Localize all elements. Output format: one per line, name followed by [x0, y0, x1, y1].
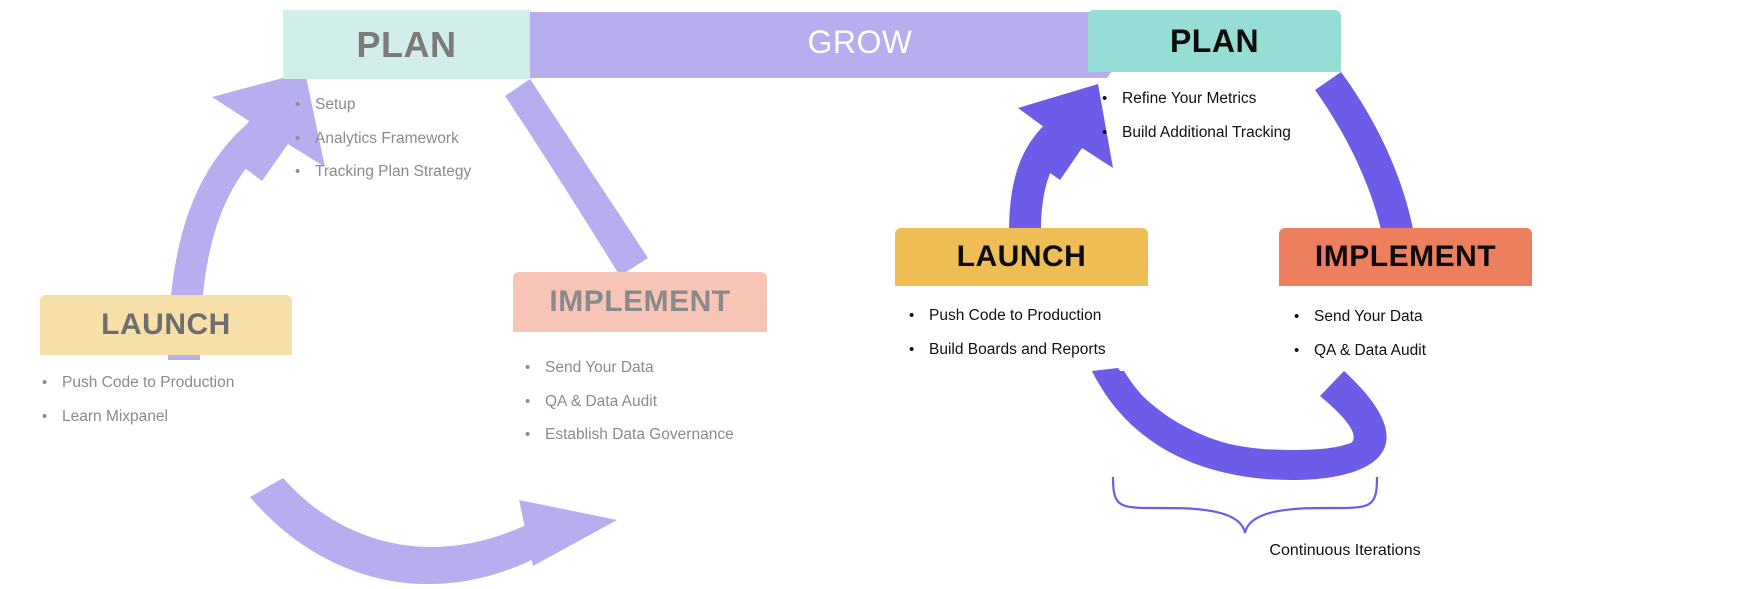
list-item: Analytics Framework [291, 122, 471, 156]
right-plan-title: PLAN [1170, 25, 1259, 57]
list-item: Establish Data Governance [521, 418, 734, 452]
right-launch-box[interactable]: LAUNCH [895, 228, 1148, 286]
left-launch-box[interactable]: LAUNCH [40, 295, 292, 355]
list-item: Learn Mixpanel [38, 400, 234, 434]
left-plan-title: PLAN [357, 27, 457, 63]
list-item: Send Your Data [521, 351, 734, 385]
left-plan-bullets: Setup Analytics Framework Tracking Plan … [291, 88, 471, 189]
left-launch-bullets: Push Code to Production Learn Mixpanel [38, 366, 234, 433]
grow-banner-label: GROW [700, 20, 1020, 64]
continuous-iterations-label: Continuous Iterations [1180, 542, 1510, 560]
list-item: Tracking Plan Strategy [291, 155, 471, 189]
continuous-iterations-brace [1113, 477, 1377, 533]
list-item: Push Code to Production [905, 299, 1106, 333]
diagram-canvas: GROW PLAN Setup Analytics Framework Trac… [0, 0, 1740, 589]
list-item: Build Additional Tracking [1098, 116, 1291, 150]
list-item: QA & Data Audit [521, 385, 734, 419]
arrow-plan-to-implement-left [505, 79, 648, 276]
left-plan-box[interactable]: PLAN [283, 10, 530, 79]
right-launch-bullets: Push Code to Production Build Boards and… [905, 299, 1106, 366]
arrow-implement-to-launch-right [1092, 368, 1387, 480]
right-plan-bullets: Refine Your Metrics Build Additional Tra… [1098, 82, 1291, 149]
right-implement-title: IMPLEMENT [1315, 242, 1496, 272]
left-implement-box[interactable]: IMPLEMENT [513, 272, 767, 332]
list-item: QA & Data Audit [1290, 334, 1426, 368]
list-item: Setup [291, 88, 471, 122]
right-implement-bullets: Send Your Data QA & Data Audit [1290, 300, 1426, 367]
right-implement-box[interactable]: IMPLEMENT [1279, 228, 1532, 286]
list-item: Build Boards and Reports [905, 333, 1106, 367]
left-implement-bullets: Send Your Data QA & Data Audit Establish… [521, 351, 734, 452]
arrow-plan-to-implement-right [1315, 72, 1414, 234]
list-item: Push Code to Production [38, 366, 234, 400]
arrow-implement-to-launch-left [250, 478, 617, 584]
left-implement-title: IMPLEMENT [549, 287, 730, 317]
right-plan-box[interactable]: PLAN [1088, 10, 1341, 72]
right-launch-title: LAUNCH [957, 242, 1087, 272]
list-item: Send Your Data [1290, 300, 1426, 334]
left-launch-title: LAUNCH [101, 310, 231, 340]
list-item: Refine Your Metrics [1098, 82, 1291, 116]
